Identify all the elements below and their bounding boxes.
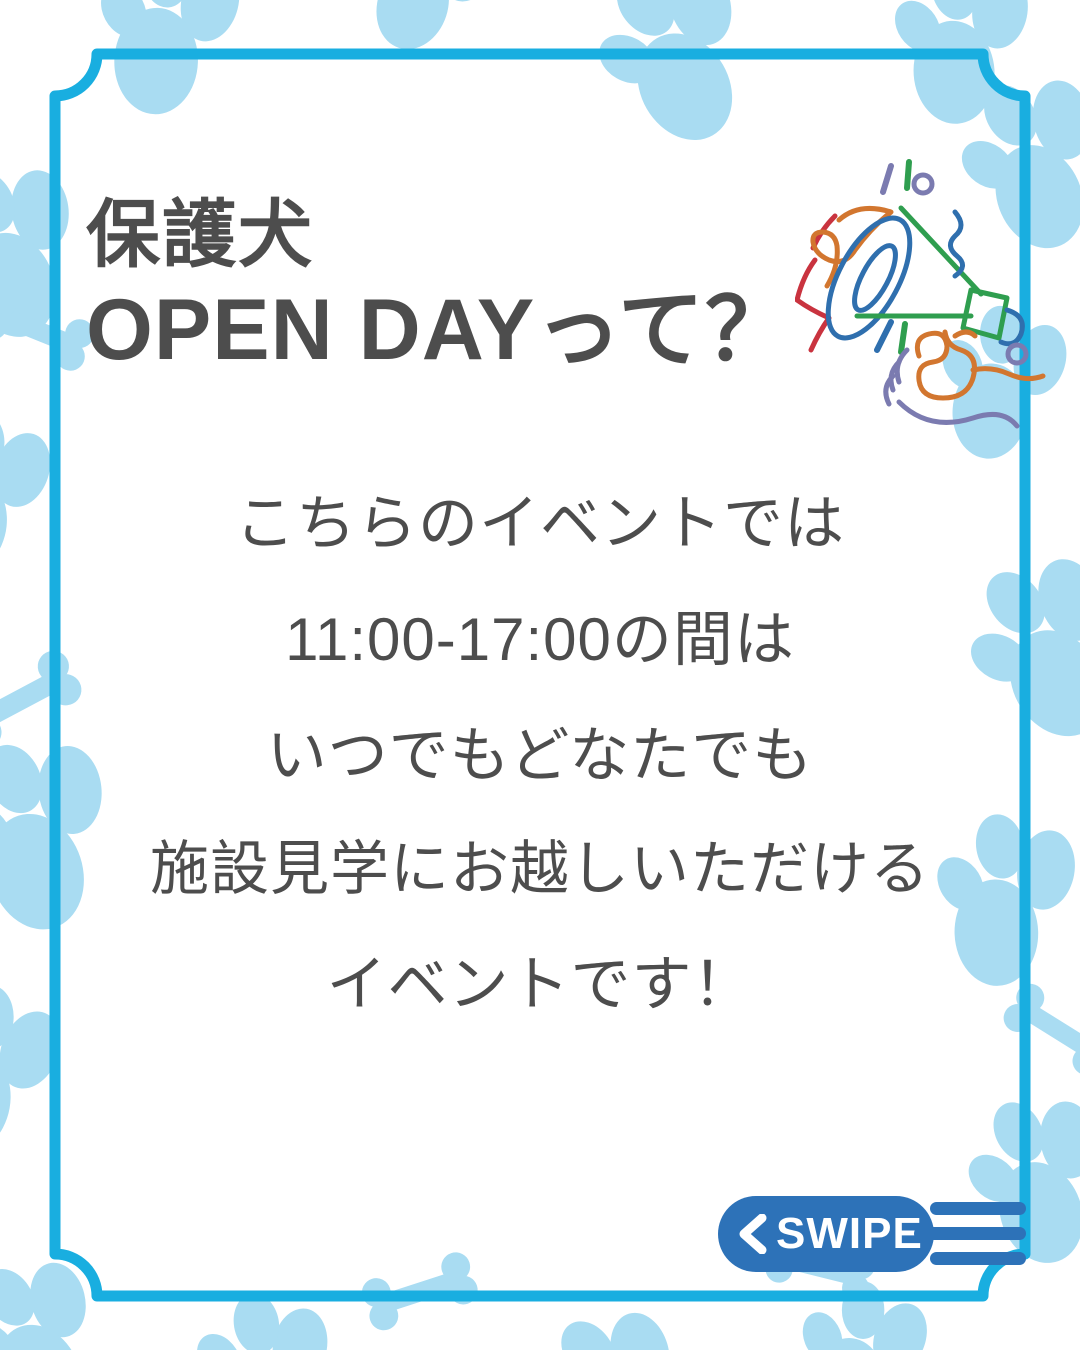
body-copy: こちらのイベントでは 11:00-17:00の間は いつでもどなたでも 施設見学…: [60, 466, 1020, 1043]
page-title: 保護犬 OPEN DAYって？: [86, 196, 846, 382]
megaphone-illustration: [795, 150, 1065, 450]
body-line-5: イベントです！: [60, 927, 1020, 1043]
swipe-button[interactable]: SWIPE: [718, 1196, 1028, 1272]
swipe-pill[interactable]: SWIPE: [718, 1196, 934, 1272]
body-line-2: 11:00-17:00の間は: [60, 582, 1020, 698]
chevron-left-icon: [736, 1214, 770, 1254]
slide-canvas: 保護犬 OPEN DAYって？: [0, 0, 1080, 1350]
body-line-1: こちらのイベントでは: [60, 466, 1020, 582]
speed-line-1: [930, 1202, 1026, 1215]
body-line-3: いつでもどなたでも: [60, 698, 1020, 814]
speed-lines-icon: [914, 1202, 1028, 1266]
speed-line-2: [914, 1227, 1026, 1240]
speed-line-3: [930, 1252, 1026, 1265]
headline-line-1: 保護犬: [86, 196, 846, 274]
body-line-4: 施設見学にお越しいただける: [60, 813, 1020, 927]
swipe-label: SWIPE: [776, 1212, 923, 1256]
headline-line-2: OPEN DAYって？: [86, 280, 846, 381]
